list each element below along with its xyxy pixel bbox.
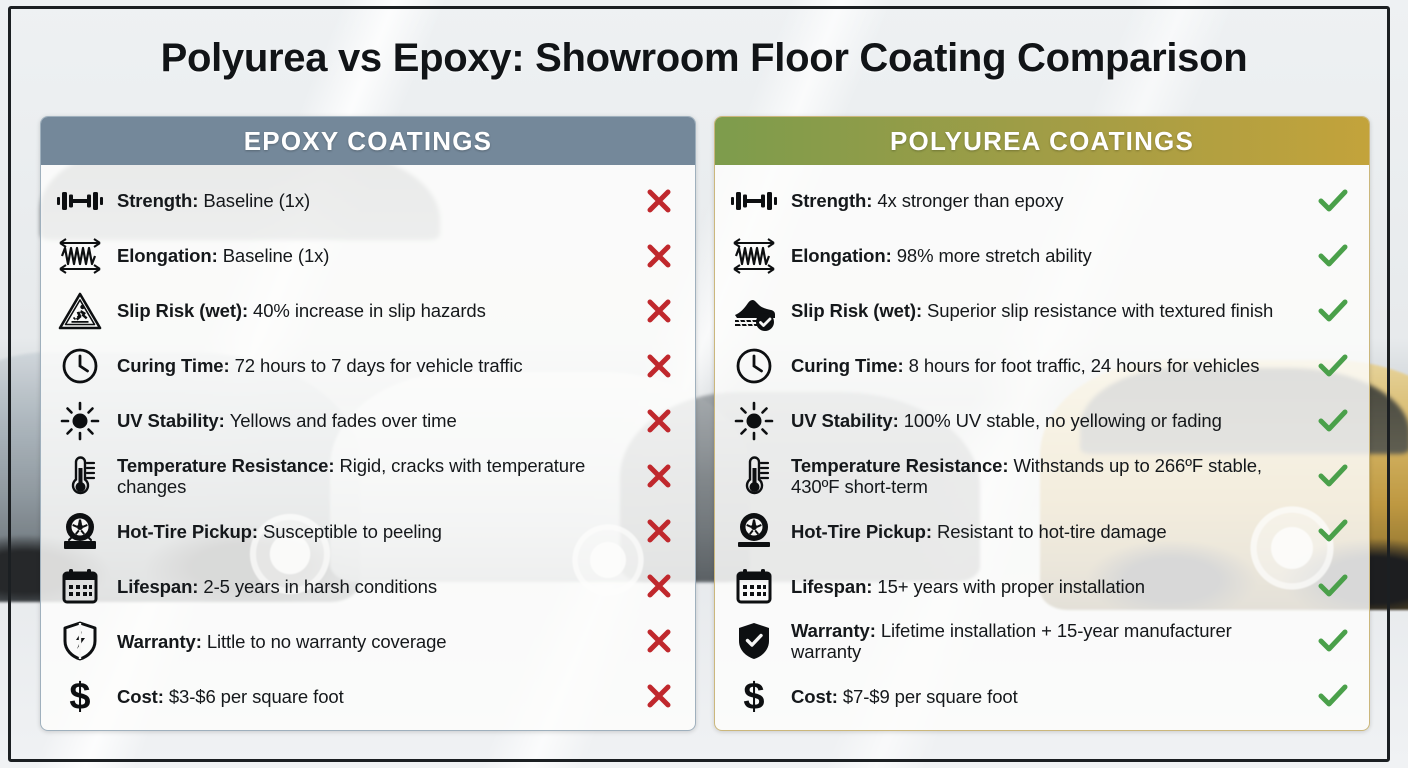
row-label: Temperature Resistance: [791, 455, 1013, 476]
row-label: Elongation: [791, 245, 897, 266]
tire-icon [727, 509, 781, 553]
table-row[interactable]: Slip Risk (wet): Superior slip resistanc… [715, 283, 1369, 338]
row-label: Warranty: [791, 620, 881, 641]
row-value: 100% UV stable, no yellowing or fading [904, 410, 1222, 431]
epoxy-column: EPOXY COATINGS Strength: Baseline (1x) [40, 116, 696, 731]
table-row[interactable]: Curing Time: 72 hours to 7 days for vehi… [41, 338, 695, 393]
sun-icon [727, 399, 781, 443]
table-row[interactable]: Warranty: Little to no warranty coverage [41, 614, 695, 669]
row-label: UV Stability: [117, 410, 230, 431]
table-row[interactable]: Slip Risk (wet): 40% increase in slip ha… [41, 283, 695, 338]
table-row[interactable]: Lifespan: 2-5 years in harsh conditions [41, 559, 695, 614]
elongation-icon [53, 234, 107, 278]
calendar-icon [53, 564, 107, 608]
check-icon [1311, 298, 1355, 324]
row-value: Little to no warranty coverage [207, 631, 447, 652]
row-value: Baseline (1x) [223, 245, 330, 266]
check-icon [1311, 573, 1355, 599]
cross-icon [637, 628, 681, 654]
table-row[interactable]: $ Cost: $7-$9 per square foot [715, 669, 1369, 724]
check-icon [1311, 408, 1355, 434]
row-value: 15+ years with proper installation [877, 576, 1145, 597]
row-value: Resistant to hot-tire damage [937, 521, 1167, 542]
dumbbell-icon [727, 179, 781, 223]
table-row[interactable]: Temperature Resistance: Rigid, cracks wi… [41, 448, 695, 503]
dollar-icon: $ [53, 674, 107, 718]
table-row[interactable]: $ Cost: $3-$6 per square foot [41, 669, 695, 724]
calendar-icon [727, 564, 781, 608]
table-row[interactable]: Hot-Tire Pickup: Susceptible to peeling [41, 504, 695, 559]
check-icon [1311, 518, 1355, 544]
cross-icon [637, 188, 681, 214]
row-label: Cost: [791, 686, 843, 707]
cross-icon [637, 573, 681, 599]
row-label: Warranty: [117, 631, 207, 652]
thermometer-icon [727, 454, 781, 498]
row-value: Baseline (1x) [203, 190, 310, 211]
row-value: $7-$9 per square foot [843, 686, 1018, 707]
dollar-icon: $ [727, 674, 781, 718]
check-icon [1311, 353, 1355, 379]
tire-icon [53, 509, 107, 553]
check-icon [1311, 463, 1355, 489]
row-label: Temperature Resistance: [117, 455, 339, 476]
row-label: Cost: [117, 686, 169, 707]
cross-icon [637, 518, 681, 544]
cross-icon [637, 243, 681, 269]
check-icon [1311, 628, 1355, 654]
table-row[interactable]: Curing Time: 8 hours for foot traffic, 2… [715, 338, 1369, 393]
epoxy-row-list: Strength: Baseline (1x) [41, 165, 695, 730]
check-icon [1311, 243, 1355, 269]
table-row[interactable]: Elongation: 98% more stretch ability [715, 228, 1369, 283]
svg-text:$: $ [69, 676, 90, 718]
broken-shield-icon [53, 619, 107, 663]
table-row[interactable]: Strength: 4x stronger than epoxy [715, 173, 1369, 228]
row-value: 40% increase in slip hazards [253, 300, 486, 321]
check-icon [1311, 683, 1355, 709]
epoxy-column-header: EPOXY COATINGS [41, 117, 695, 165]
row-value: $3-$6 per square foot [169, 686, 344, 707]
table-row[interactable]: UV Stability: 100% UV stable, no yellowi… [715, 393, 1369, 448]
elongation-icon [727, 234, 781, 278]
cross-icon [637, 463, 681, 489]
shield-check-icon [727, 619, 781, 663]
row-value: 4x stronger than epoxy [877, 190, 1063, 211]
row-label: Curing Time: [791, 355, 909, 376]
row-label: Hot-Tire Pickup: [117, 521, 263, 542]
polyurea-row-list: Strength: 4x stronger than epoxy [715, 165, 1369, 730]
check-icon [1311, 188, 1355, 214]
row-label: Lifespan: [791, 576, 877, 597]
page-title: Polyurea vs Epoxy: Showroom Floor Coatin… [0, 36, 1408, 81]
table-row[interactable]: Warranty: Lifetime installation + 15-yea… [715, 614, 1369, 669]
svg-text:$: $ [743, 676, 764, 718]
infographic-stage: Polyurea vs Epoxy: Showroom Floor Coatin… [0, 0, 1408, 768]
row-label: Slip Risk (wet): [117, 300, 253, 321]
row-value: Superior slip resistance with textured f… [927, 300, 1273, 321]
table-row[interactable]: Temperature Resistance: Withstands up to… [715, 448, 1369, 503]
row-label: Curing Time: [117, 355, 235, 376]
row-label: UV Stability: [791, 410, 904, 431]
table-row[interactable]: Strength: Baseline (1x) [41, 173, 695, 228]
cross-icon [637, 683, 681, 709]
cross-icon [637, 408, 681, 434]
row-value: Susceptible to peeling [263, 521, 442, 542]
dumbbell-icon [53, 179, 107, 223]
row-label: Strength: [117, 190, 203, 211]
polyurea-column-header: POLYUREA COATINGS [715, 117, 1369, 165]
row-label: Lifespan: [117, 576, 203, 597]
table-row[interactable]: Lifespan: 15+ years with proper installa… [715, 559, 1369, 614]
comparison-columns: EPOXY COATINGS Strength: Baseline (1x) [40, 116, 1370, 731]
row-value: 8 hours for foot traffic, 24 hours for v… [909, 355, 1260, 376]
cross-icon [637, 353, 681, 379]
polyurea-column: POLYUREA COATINGS Strength: 4x stronger [714, 116, 1370, 731]
clock-icon [727, 344, 781, 388]
row-value: 72 hours to 7 days for vehicle traffic [235, 355, 523, 376]
slip-hazard-icon [53, 289, 107, 333]
shoe-check-icon [727, 289, 781, 333]
table-row[interactable]: Hot-Tire Pickup: Resistant to hot-tire d… [715, 504, 1369, 559]
table-row[interactable]: Elongation: Baseline (1x) [41, 228, 695, 283]
row-label: Hot-Tire Pickup: [791, 521, 937, 542]
row-label: Strength: [791, 190, 877, 211]
cross-icon [637, 298, 681, 324]
row-value: 98% more stretch ability [897, 245, 1092, 266]
thermometer-icon [53, 454, 107, 498]
row-label: Slip Risk (wet): [791, 300, 927, 321]
sun-icon [53, 399, 107, 443]
clock-icon [53, 344, 107, 388]
table-row[interactable]: UV Stability: Yellows and fades over tim… [41, 393, 695, 448]
row-value: 2-5 years in harsh conditions [203, 576, 437, 597]
row-label: Elongation: [117, 245, 223, 266]
row-value: Yellows and fades over time [230, 410, 457, 431]
